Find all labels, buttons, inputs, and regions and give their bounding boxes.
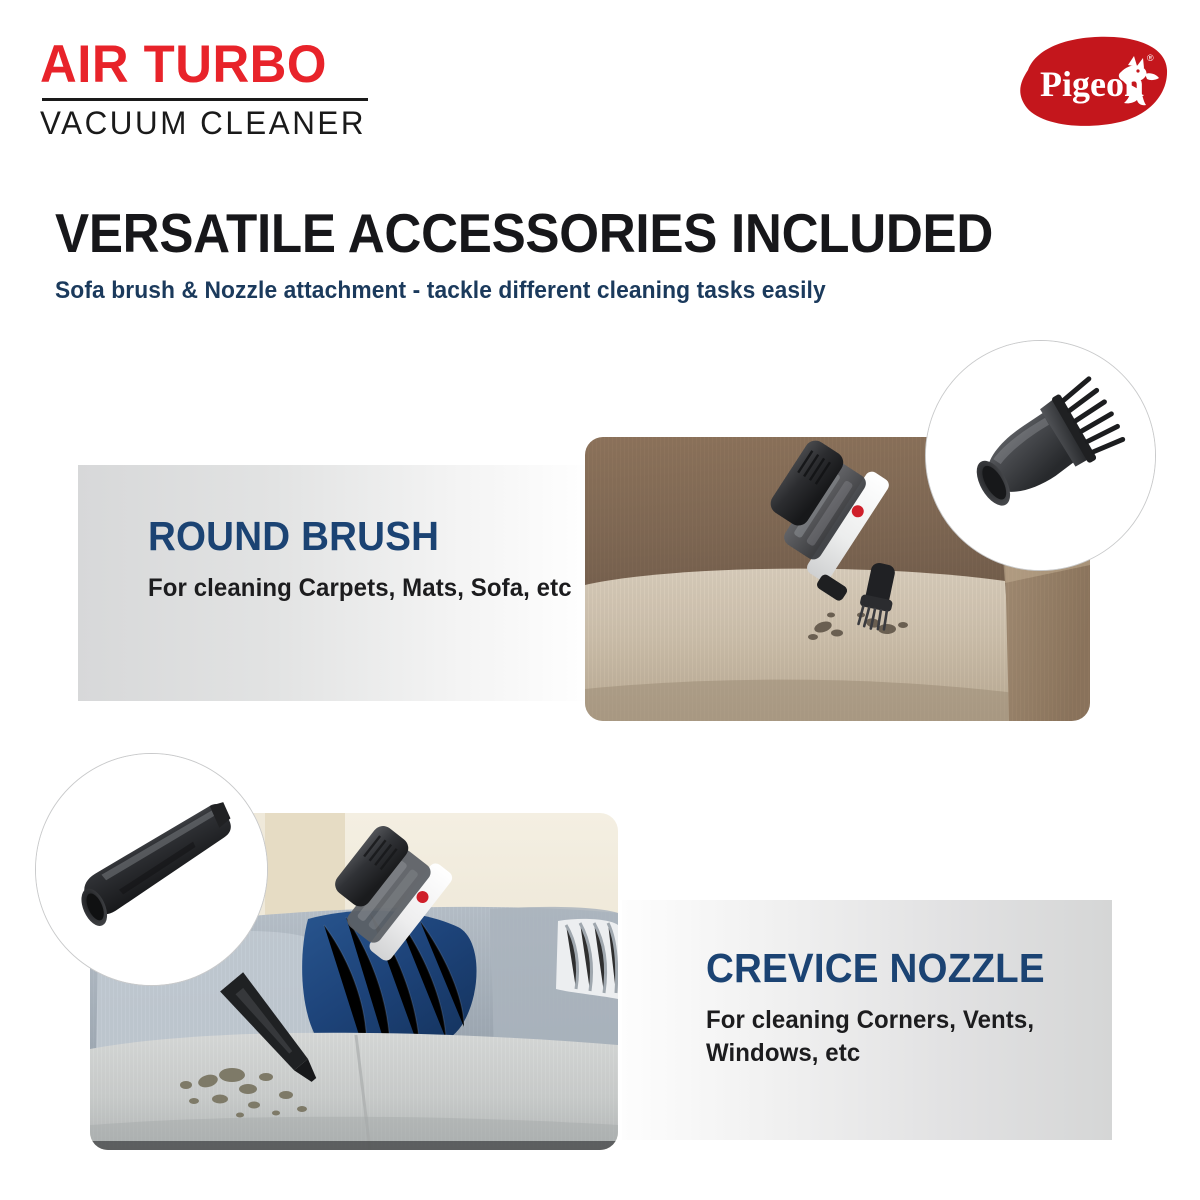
feature-inset-round-brush [925, 340, 1156, 571]
feature-description-round-brush: For cleaning Carpets, Mats, Sofa, etc [148, 572, 572, 605]
page-subtitle: Sofa brush & Nozzle attachment - tackle … [55, 277, 1091, 306]
product-line-name: AIR TURBO [40, 38, 366, 91]
feature-title-round-brush: ROUND BRUSH [148, 516, 563, 557]
feature-description-crevice-nozzle: For cleaning Corners, Vents, Windows, et… [706, 1004, 1090, 1070]
page-title: VERSATILE ACCESSORIES INCLUDED [55, 205, 1069, 261]
feature-panel-round-brush: ROUND BRUSH For cleaning Carpets, Mats, … [78, 465, 596, 701]
feature-inset-crevice-nozzle [35, 753, 268, 986]
svg-text:®: ® [1147, 53, 1154, 63]
brand-lockup: AIR TURBO VACUUM CLEANER [40, 38, 380, 139]
feature-description-line-1: For cleaning Corners, Vents, [706, 1006, 1034, 1034]
product-type-name: VACUUM CLEANER [40, 107, 373, 139]
feature-title-crevice-nozzle: CREVICE NOZZLE [706, 948, 1082, 989]
title-block: VERSATILE ACCESSORIES INCLUDED Sofa brus… [55, 205, 1145, 306]
feature-panel-crevice-nozzle: CREVICE NOZZLE For cleaning Corners, Ven… [622, 900, 1112, 1140]
feature-description-line-2: Windows, etc [706, 1039, 860, 1067]
brand-divider-rule [42, 98, 368, 101]
pigeon-logo: Pigeon ® [1016, 34, 1168, 128]
